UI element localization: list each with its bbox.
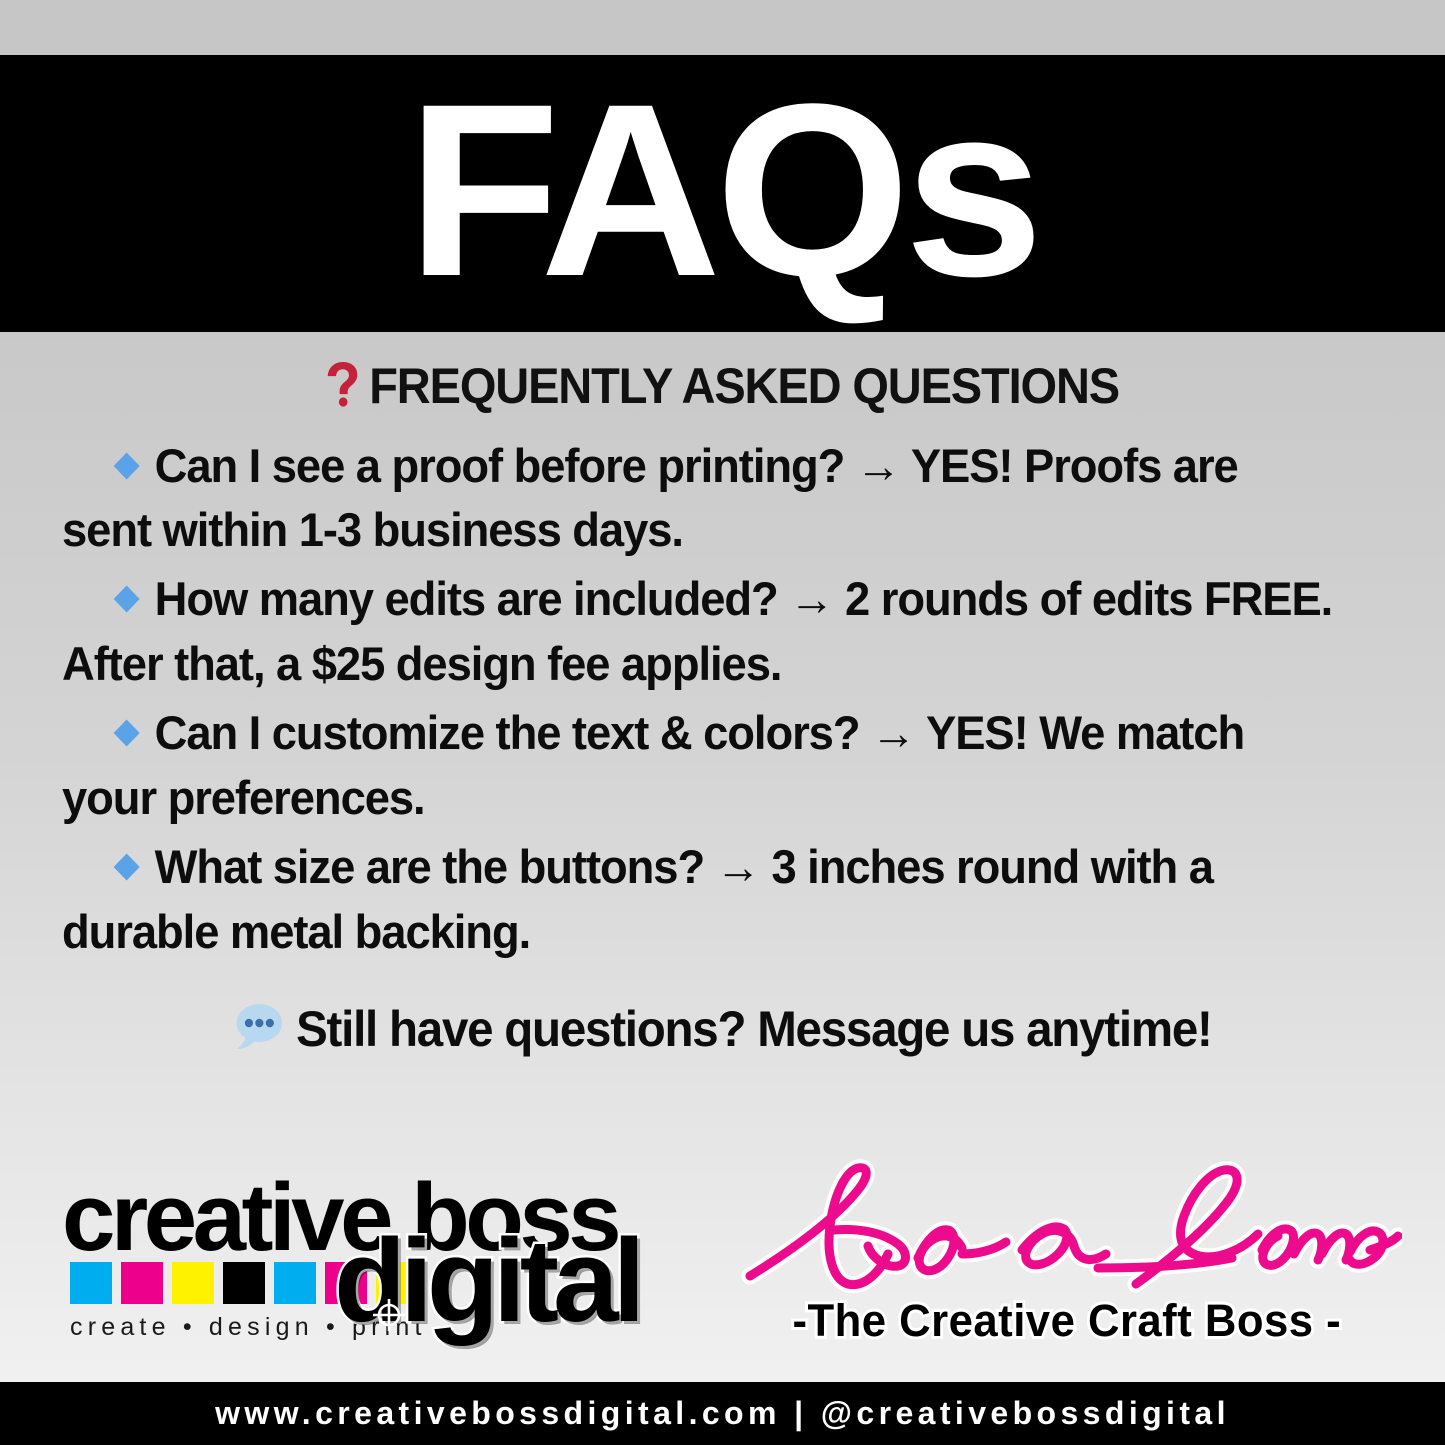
blue-diamond-icon [87, 566, 141, 631]
rae-samone-tagline: -The Creative Craft Boss - [792, 1298, 1341, 1343]
creative-boss-digital-logo: creative boss create • design • print di… [62, 1170, 702, 1360]
faq-text: Can I see a proof before printing? → YES… [62, 439, 1238, 557]
faq-item: Can I see a proof before printing? → YES… [62, 433, 1337, 564]
rae-samone-signature [722, 1154, 1402, 1304]
faq-item: Can I customize the text & colors? → YES… [62, 700, 1337, 831]
swatch-yellow [172, 1262, 214, 1304]
swatch-cyan [70, 1262, 112, 1304]
footer-contact-text: www.creativebossdigital.com | @creativeb… [215, 1395, 1230, 1432]
rae-samone-logo: -The Creative Craft Boss - [722, 1158, 1402, 1373]
faq-item: How many edits are included? → 2 rounds … [62, 566, 1337, 697]
blue-diamond-icon [87, 700, 141, 765]
faq-flyer: FAQs FREQUENTLY ASKED QUESTIONS Can I se… [0, 0, 1445, 1445]
footer-bar: www.creativebossdigital.com | @creativeb… [0, 1382, 1445, 1445]
section-subheading: FREQUENTLY ASKED QUESTIONS [102, 360, 1344, 417]
faq-item: What size are the buttons? → 3 inches ro… [62, 834, 1337, 965]
branding-row: creative boss create • design • print di… [0, 1158, 1445, 1376]
subheading-text: FREQUENTLY ASKED QUESTIONS [369, 358, 1119, 414]
page-title: FAQs [407, 90, 1038, 298]
closing-message: Still have questions? Message us anytime… [95, 1002, 1350, 1063]
swatch-cyan [274, 1262, 316, 1304]
swatch-magenta [121, 1262, 163, 1304]
speech-balloon-icon [233, 1002, 282, 1063]
red-question-mark-icon [326, 361, 360, 417]
faq-text: What size are the buttons? → 3 inches ro… [62, 840, 1213, 958]
faq-text: Can I customize the text & colors? → YES… [62, 706, 1244, 824]
faq-text: How many edits are included? → 2 rounds … [62, 572, 1332, 690]
header-banner: FAQs [0, 55, 1445, 332]
registration-target-icon [372, 1298, 406, 1332]
swatch-black [223, 1262, 265, 1304]
blue-diamond-icon [87, 433, 141, 498]
blue-diamond-icon [87, 834, 141, 899]
faq-list: Can I see a proof before printing? → YES… [62, 433, 1383, 965]
closing-text: Still have questions? Message us anytime… [296, 1001, 1211, 1057]
